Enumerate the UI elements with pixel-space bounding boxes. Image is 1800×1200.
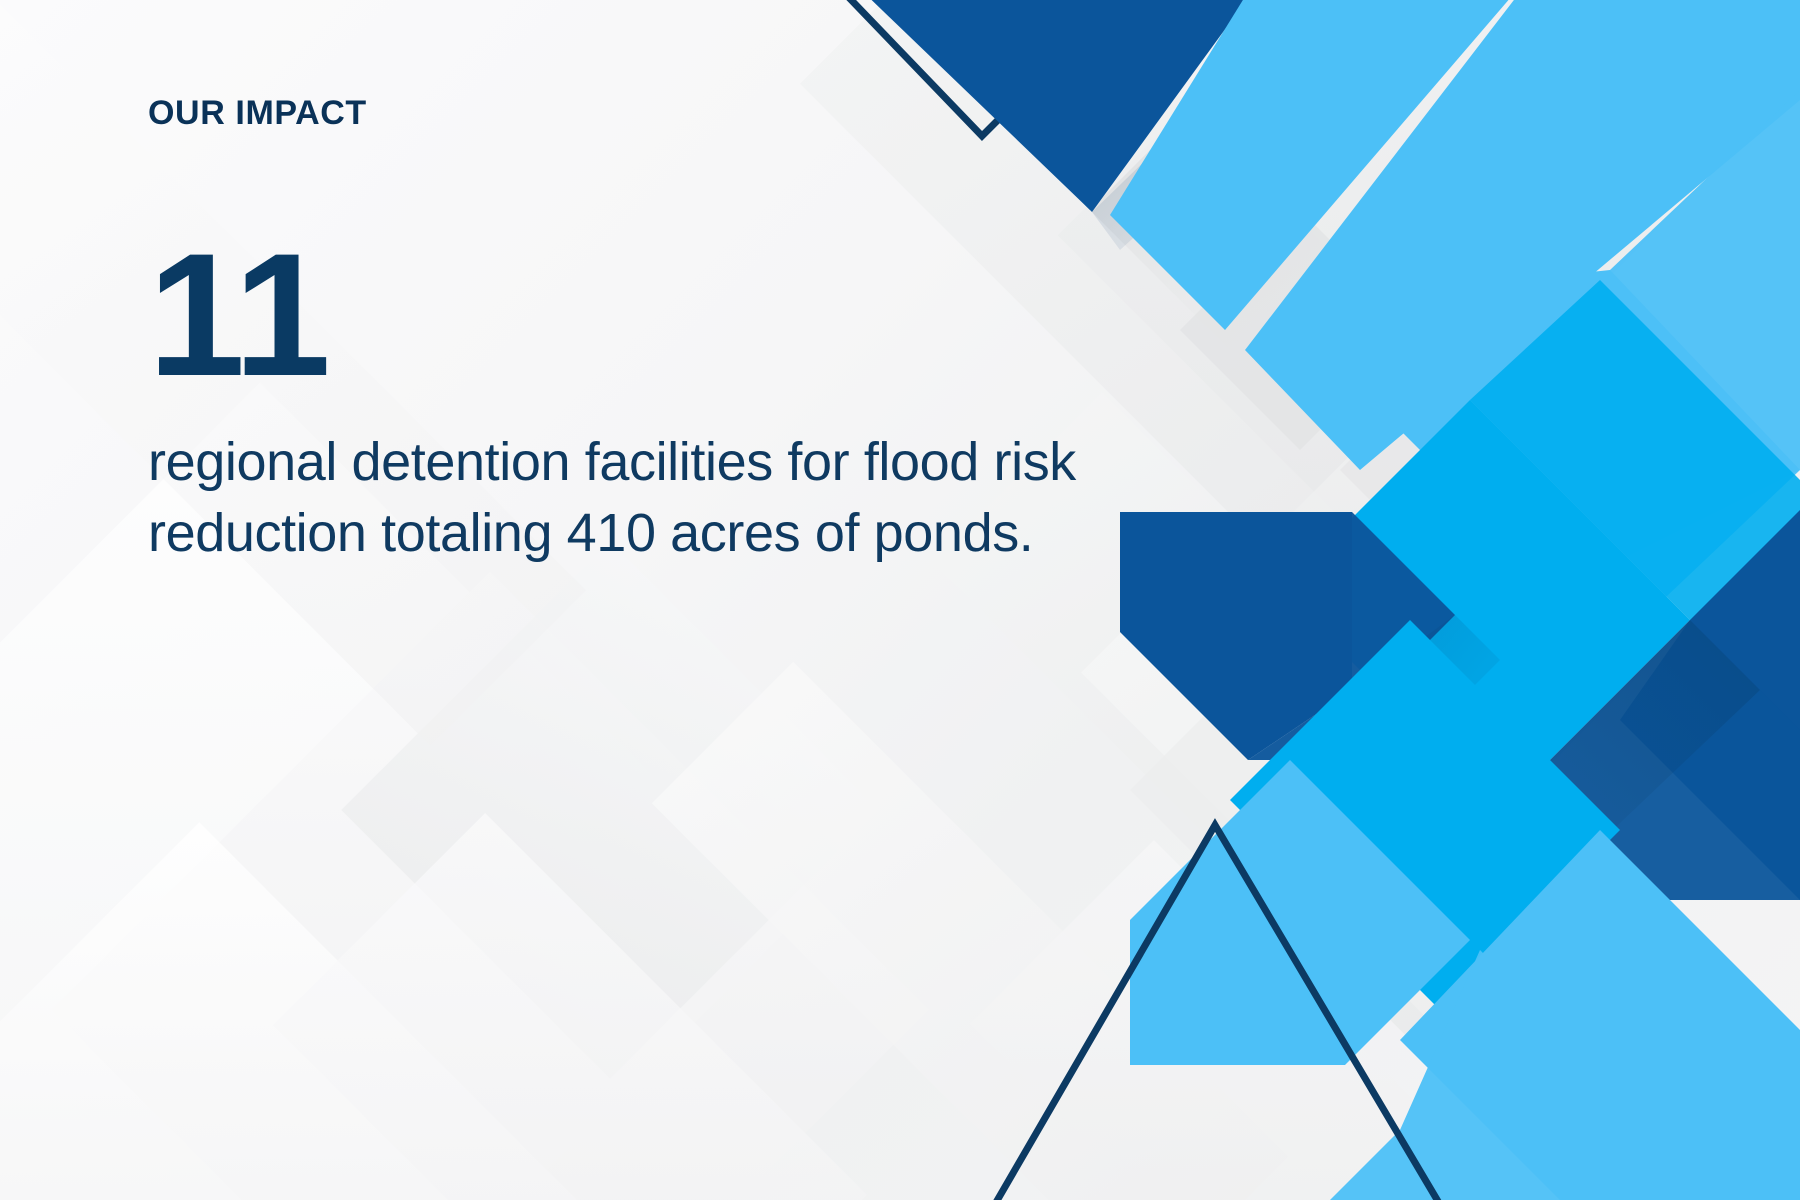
impact-stat-poster: OUR IMPACT 11 regional detention facilit… xyxy=(0,0,1800,1200)
stat-number: 11 xyxy=(148,248,1108,385)
text-content: OUR IMPACT 11 regional detention facilit… xyxy=(148,96,1108,569)
stat-description: regional detention facilities for flood … xyxy=(148,427,1088,570)
eyebrow-label: OUR IMPACT xyxy=(148,96,1108,130)
